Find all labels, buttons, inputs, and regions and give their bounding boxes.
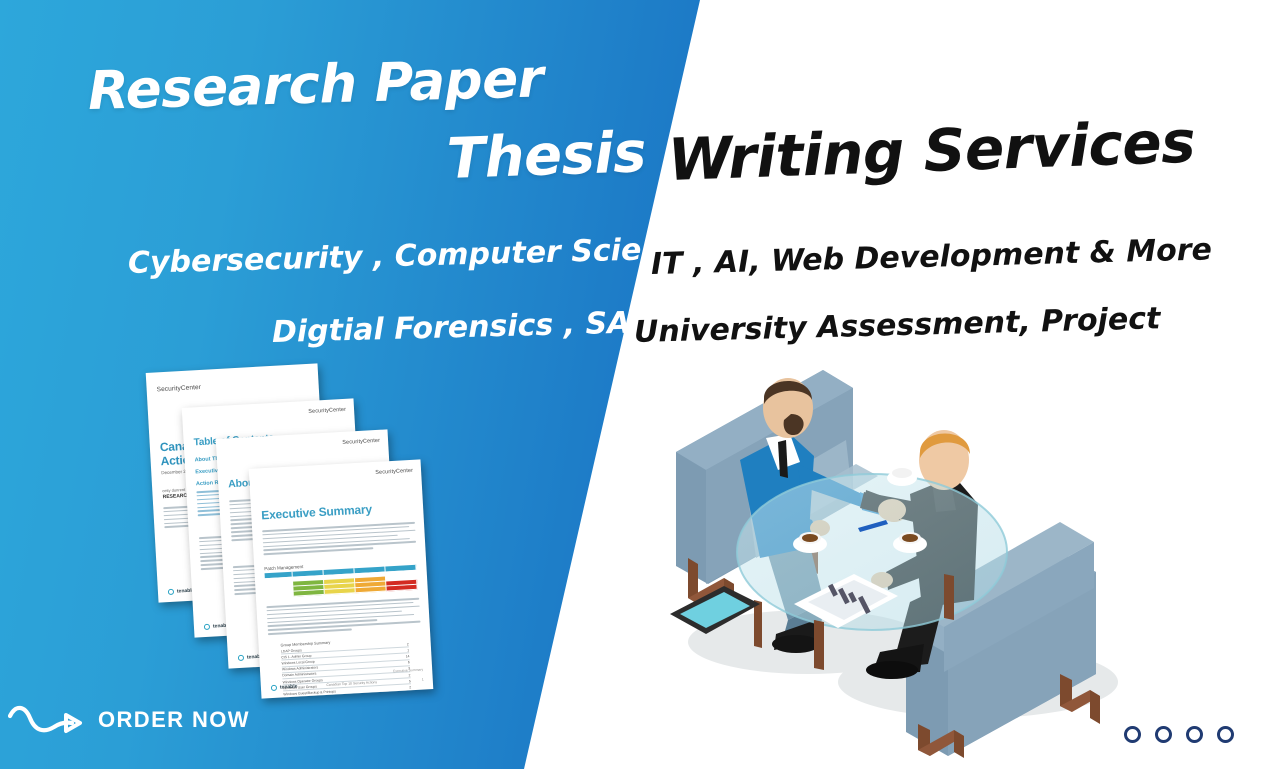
footer-page-number: 1: [422, 678, 424, 682]
page-body-text-2: [266, 598, 420, 638]
pagination-dot-3[interactable]: [1186, 726, 1203, 743]
tenable-logo-icon: [168, 589, 174, 595]
headline-writing-services: Writing Services: [667, 110, 1196, 192]
pagination-dot-2[interactable]: [1155, 726, 1172, 743]
subheading-university: University Assessment, Project: [634, 301, 1161, 350]
document-page-executive-summary: SecurityCenter Executive Summary Patch M…: [249, 459, 434, 698]
headline-research-paper: Research Paper: [87, 50, 544, 121]
securitycenter-brand: SecurityCenter: [375, 468, 413, 476]
document-stack: SecurityCenter CanadianActions December …: [143, 366, 443, 706]
pagination-dot-1[interactable]: [1124, 726, 1141, 743]
securitycenter-brand: SecurityCenter: [156, 384, 201, 393]
tenable-logo-icon: [238, 655, 244, 661]
order-now-label: ORDER NOW: [98, 707, 250, 733]
page-title-executive-summary: Executive Summary: [261, 502, 372, 522]
coffee-cup-top: [887, 468, 917, 486]
row-label: LDAP Groups: [281, 648, 302, 653]
tenable-logo-icon: [271, 685, 277, 691]
business-handshake-illustration: [648, 352, 1138, 762]
row-label: Windows Guest/Backup & Printops: [283, 689, 336, 696]
tenable-logo-text: tenable: [280, 684, 298, 691]
page-footer-tag: Executive Summary: [393, 668, 423, 674]
pagination-dots[interactable]: [1124, 726, 1234, 743]
securitycenter-brand: SecurityCenter: [342, 438, 380, 446]
patch-management-heatmap: Patch Management: [264, 558, 418, 598]
securitycenter-brand: SecurityCenter: [308, 407, 346, 415]
tenable-logo-icon: [204, 624, 210, 630]
subheading-it-ai-web: IT , AI, Web Development & More: [651, 232, 1213, 282]
pagination-dot-4[interactable]: [1217, 726, 1234, 743]
squiggly-arrow-right-icon: [8, 700, 92, 740]
headline-thesis: Thesis: [446, 122, 647, 191]
page-body-text: [262, 522, 416, 558]
order-now-cta[interactable]: ORDER NOW: [8, 700, 250, 740]
promo-banner: Research Paper Thesis Writing Services C…: [0, 0, 1280, 769]
